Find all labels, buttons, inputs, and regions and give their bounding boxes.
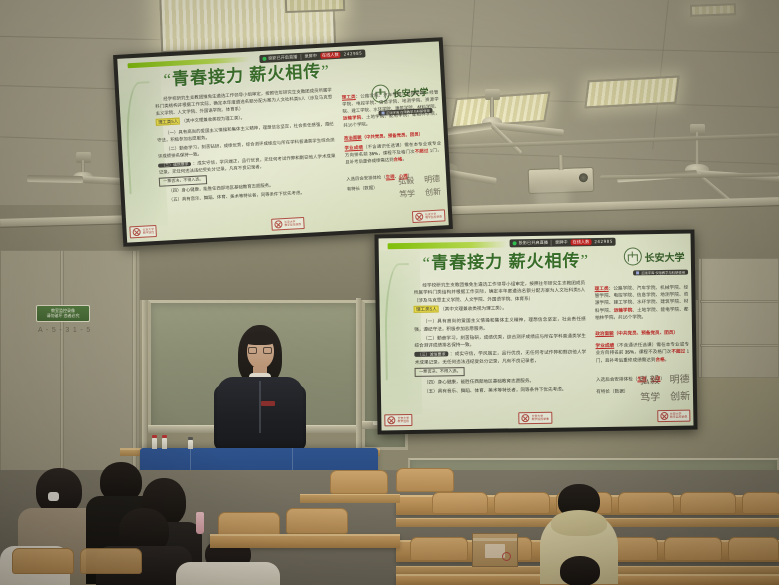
academic-score-label: 学业成绩 (595, 343, 614, 348)
paragraph-text: ：公路学院、汽车学院、机械学院、经管学院、电控学院、信息学院、地测学院、资源学院… (342, 89, 439, 113)
monitoring-seal-mid-1: 长安大学 教学监控录像 (271, 217, 304, 231)
ceiling-panel-light (285, 0, 346, 13)
overlay-live-segment: 投影已开启直播 (513, 240, 548, 247)
water-bottle[interactable] (162, 438, 167, 449)
fan-blade (444, 169, 496, 185)
not-exceed-highlight: 不超过 (671, 349, 685, 354)
room-number: A - 5 - 3 1 - 5 (38, 327, 91, 334)
badge-dot-icon (636, 272, 639, 275)
audience-head (560, 556, 600, 585)
overlay-record-segment: 录屏中 (304, 53, 317, 60)
paragraph: 理工类：公路学院、汽车学院、机械学院、经管学院、电控学院、信息学院、地测学院、资… (342, 89, 440, 129)
bottle-cap (162, 435, 167, 438)
integrity-chip: （三）诚信要求 (158, 161, 191, 167)
overlay-record-label: 录屏中 (304, 53, 317, 60)
monitoring-seal-left-2: 长安大学 教学监控 (384, 414, 412, 426)
motto-char-4: 创新 (424, 187, 441, 199)
slide-canvas-2: “青春接力 薪火相传” 投影已开启直播 录屏中 在线人数 242985 长安大学 (379, 234, 694, 431)
presenter (200, 325, 320, 465)
paragraph-text: （其中文理兼收类视为理工类）。 (440, 305, 507, 311)
fan-rod (490, 97, 494, 119)
face-mask (48, 492, 59, 501)
viewer-count-pill: 在线人数 (570, 239, 591, 245)
seat-backrest[interactable] (396, 468, 454, 492)
paragraph-text: 。 (665, 357, 670, 362)
overlay-live-label: 投影已开启直播 (268, 54, 298, 62)
slide-left-column-1: 经学校研究生支教团推免生遴选工作领导小组审定，按照往年研究生支教团成员所属学科门… (155, 88, 338, 206)
desk-ledge (300, 494, 400, 503)
paragraph: （五）具有音乐、舞蹈、体育、美术等特长者，同等条件下优先考虑。 (415, 385, 587, 395)
projector-lens (579, 173, 588, 182)
overlay-divider (551, 240, 552, 246)
monitoring-seal-mid-2: 长安大学 教学监控录像 (519, 412, 553, 425)
audience-member (552, 556, 608, 585)
transport-college-highlight: 运输学院 (343, 114, 362, 120)
paragraph: 政治面貌（中共党员、预备党员、团员） (595, 329, 689, 338)
paragraph: （二）勤奋学习，刻苦钻研，成绩优秀，综合测评成绩应与所在学科普通类学生综合测评成… (414, 332, 586, 349)
paragraph-text: ，课程不及格门次 (634, 349, 671, 355)
university-name-label: 长安大学 (644, 249, 684, 265)
seat-backrest[interactable] (12, 548, 74, 574)
font-license-badge-2: 正版字库 仅限教学与科研使用 (633, 270, 688, 276)
projector-mount-arm (558, 155, 564, 170)
political-status-label: 政治面貌 (344, 134, 362, 140)
seat-backrest[interactable] (80, 548, 142, 574)
political-status-text: （中共党员、预备党员、团员） (361, 131, 423, 139)
paragraph-text: 。 (402, 156, 407, 161)
highlight-engineering-quota: 理工类5人 (414, 305, 439, 312)
paragraph: 理工类：公路学院、汽车学院、机械学院、经管学院、电控学院、信息学院、地测学院、资… (595, 284, 689, 322)
viewer-count-pill: 在线人数 (320, 51, 341, 58)
seal-text: 长安大学 教学监控录像 (670, 413, 687, 419)
university-motto-2: 弘毅 明德 笃学 创新 (639, 370, 690, 404)
overlay-divider (300, 54, 301, 60)
paragraph-text: ，课程不及格门次 (378, 149, 415, 156)
seal-text: 长安大学 教学监控录像 (532, 415, 549, 421)
transport-college-highlight: 运输学院 (614, 307, 633, 312)
slide-title-text: 青春接力 薪火相传 (172, 62, 322, 89)
surveillance-notice-sign: 教室监控录像 请勿破坏 违者必究 (36, 305, 90, 322)
motto-char-1: 弘毅 (397, 175, 414, 187)
wall-trim (60, 250, 64, 490)
viewer-count-digits: 242985 (344, 51, 363, 57)
integrity-chip: （三）诚信要求 (415, 352, 449, 358)
right-wall-panel (700, 258, 779, 378)
wall-trim (700, 300, 779, 303)
pass-grade-highlight: 合格 (655, 357, 664, 362)
paragraph: 一票否决，不得入选。 (415, 365, 587, 376)
motto-char-4: 创新 (670, 387, 690, 403)
seal-ring-icon (274, 220, 282, 228)
bottle-cap (152, 435, 157, 438)
glasses-lens-right (263, 347, 272, 354)
projection-screen-1[interactable]: “青春接力 薪火相传” 投影已开启直播 录屏中 在线人数 242985 长安大学 (113, 37, 453, 247)
overlay-live-segment: 投影已开启直播 (262, 54, 298, 62)
monitoring-seal-right-2: 长安大学 教学监控录像 (657, 410, 691, 423)
seat-backrest[interactable] (410, 537, 468, 561)
audience-jacket (176, 562, 280, 585)
paragraph: 学业成绩（不含通识任选课）需在本专业或专业方向排名前 35%，课程不及格门次不超… (595, 341, 689, 364)
paragraph-text: （其中文理兼收类视为理工类）。 (181, 115, 245, 123)
highlight-engineering-quota: 理工类5人 (156, 118, 180, 126)
not-exceed-highlight: 不超过 (415, 148, 429, 154)
board-divider (356, 298, 361, 454)
paragraph: 理工类5人 （其中文理兼收类视为理工类）。 (414, 303, 586, 313)
motto-char-3: 笃学 (398, 188, 415, 200)
seat-backrest[interactable] (432, 492, 488, 514)
paragraph: （四）身心健康，能胜任西部地区基础教育志愿服务。 (415, 376, 587, 386)
veto-box: 一票否决，不得入选。 (415, 367, 465, 376)
slide-canvas-1: “青春接力 薪火相传” 投影已开启直播 录屏中 在线人数 242985 长安大学 (117, 41, 448, 242)
slide-title-2: “青春接力 薪火相传” (422, 246, 591, 274)
seal-ring-icon (660, 412, 668, 420)
presenter-fringe (244, 332, 276, 345)
seat-backrest[interactable] (742, 492, 779, 514)
surveillance-notice-text: 教室监控录像 请勿破坏 违者必究 (46, 309, 79, 318)
wall-trim (698, 258, 702, 378)
fan-blade (27, 175, 83, 183)
quote-close: ” (580, 251, 589, 270)
presenter-glasses (248, 347, 272, 354)
paragraph: 经学校研究生支教团推免生遴选工作领导小组审定，按照往年研究生支教团成员所属学科门… (414, 279, 586, 303)
seal-ring-icon (415, 213, 423, 221)
box-tape (473, 538, 517, 541)
seal-text: 长安大学 教学监控 (143, 229, 155, 235)
university-motto-1: 弘毅 明德 笃学 创新 (397, 174, 441, 201)
ceiling-fan (432, 97, 552, 137)
slide-left-column-2: 经学校研究生支教团推免生遴选工作领导小组审定，按照往年研究生支教团成员所属学科门… (414, 279, 587, 397)
engineering-category-label: 理工类 (595, 286, 609, 291)
paragraph-text: 入选后会安排体检（ (596, 376, 637, 382)
projector (528, 167, 595, 194)
wall-trim (700, 344, 779, 347)
ceiling-panel-light (584, 75, 679, 108)
paragraph: （三）诚信要求 ：成实守信，学风端正，品行优良，无任何考试作弊和剽窃他人学术成果… (415, 349, 587, 366)
overlay-live-label: 投影已开启直播 (519, 240, 548, 246)
academic-score-label: 学业成绩 (344, 145, 363, 151)
water-bottle[interactable] (152, 438, 157, 449)
seat-backrest[interactable] (330, 470, 388, 494)
seal-ring-icon (522, 414, 530, 422)
live-status-dot (513, 241, 517, 245)
slide-title-text: 青春接力 薪火相传 (431, 251, 581, 272)
political-status-label: 政治面貌 (595, 331, 613, 336)
viewer-count-digits: 242985 (594, 239, 613, 244)
ceiling-panel-light (690, 3, 736, 17)
board-divider (142, 300, 147, 450)
seal-text: 长安大学 教学监控录像 (425, 213, 442, 220)
academic-percentile: 35% (625, 350, 634, 355)
live-status-dot (262, 56, 266, 60)
seat-backrest[interactable] (680, 492, 736, 514)
font-license-text: 正版字库 仅限教学与科研使用 (641, 270, 685, 276)
paragraph: 学业成绩（不含通识任选课）需在本专业或专业方向排名前 35%，课程不及格门次不超… (344, 141, 442, 167)
seat-backrest[interactable] (728, 537, 779, 561)
box-seal-icon (502, 552, 511, 561)
seal-text: 长安大学 教学监控 (397, 417, 409, 423)
pink-bottle[interactable] (196, 512, 204, 534)
recording-status-overlay-2[interactable]: 投影已开启直播 录屏中 在线人数 242985 (510, 238, 616, 248)
bottle-cap (188, 437, 193, 440)
seal-text: 长安大学 教学监控录像 (284, 221, 301, 228)
left-wall (0, 250, 140, 490)
projection-screen-2[interactable]: “青春接力 薪火相传” 投影已开启直播 录屏中 在线人数 242985 长安大学 (374, 229, 697, 434)
paragraph: （一）具有高尚的爱国主义情操和集体主义精神，理想信念坚定，社会责任感强，遵纪守法… (414, 315, 586, 332)
jacket-zipper (259, 381, 261, 433)
overlay-record-segment: 录屏中 (555, 239, 568, 245)
engineering-category-label: 理工类 (342, 94, 356, 100)
monitoring-seal-right-1: 长安大学 教学监控录像 (412, 210, 445, 224)
overlay-record-label: 录屏中 (555, 239, 568, 245)
quote-close: ” (321, 62, 331, 81)
motto-char-1: 弘毅 (639, 371, 659, 387)
motto-char-3: 笃学 (640, 388, 660, 404)
veto-box: 一票否决，不得入选。 (159, 176, 207, 187)
jacket-logo (261, 401, 275, 406)
hoodie-hood (551, 510, 607, 536)
university-logo-2: 长安大学 (623, 247, 684, 266)
paragraph-text: 入选后会安排体检（ (346, 174, 386, 181)
motto-char-2: 明德 (669, 370, 689, 386)
seat-backrest[interactable] (286, 508, 348, 534)
seat-row[interactable] (210, 534, 400, 548)
motto-char-2: 明德 (423, 174, 440, 186)
physiological-highlight: 生理 (386, 174, 395, 179)
seal-ring-icon (387, 416, 395, 424)
university-emblem-icon (623, 248, 641, 266)
seal-ring-icon (133, 228, 141, 236)
glasses-lens-left (248, 347, 257, 354)
political-status-text: （中共党员、预备党员、团员） (614, 330, 678, 336)
monitoring-seal-left-1: 长安大学 教学监控 (130, 225, 158, 238)
cardboard-box[interactable] (472, 533, 518, 567)
lecture-hall-photo: 教室监控录像 请勿破坏 违者必究 A - 5 - 3 1 - 5 “青春接力 薪… (0, 0, 779, 585)
seat-backrest[interactable] (618, 492, 674, 514)
water-bottle[interactable] (188, 440, 193, 449)
seat-backrest[interactable] (664, 537, 722, 561)
